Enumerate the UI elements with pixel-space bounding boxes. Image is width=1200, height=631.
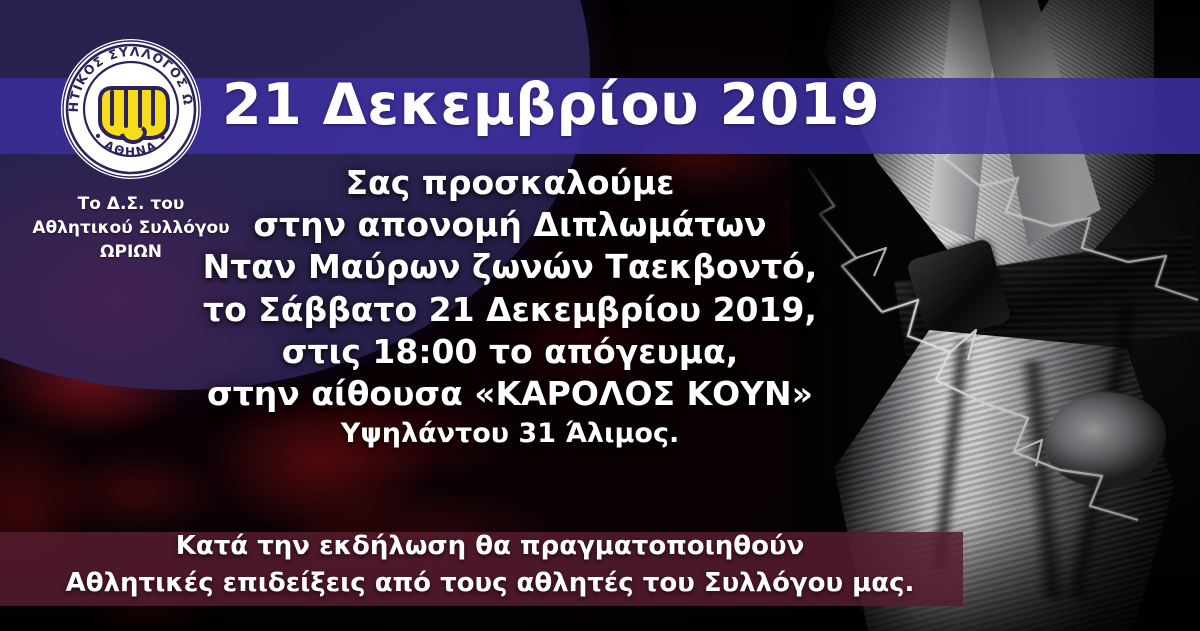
invitation-text: Σας προσκαλούμε στην απονομή Διπλωμάτων … bbox=[180, 162, 840, 454]
invite-line: Σας προσκαλούμε bbox=[180, 162, 840, 204]
event-poster: 21 Δεκεμβρίου 2019 ΑΘΛΗΤΙΚΟΣ ΣΥΛΛΟΓΟΣ ΩΡ… bbox=[0, 0, 1200, 631]
invite-line: Νταν Μαύρων ζωνών Ταεκβοντό, bbox=[180, 246, 840, 288]
invite-line: στην απονομή Διπλωμάτων bbox=[180, 204, 840, 246]
invite-line: το Σάββατο 21 Δεκεμβρίου 2019, bbox=[180, 289, 840, 331]
invite-line: στις 18:00 το απόγευμα, bbox=[180, 331, 840, 373]
venue-address: Υψηλάντου 31 Άλιμος. bbox=[180, 415, 840, 453]
event-date: 21 Δεκεμβρίου 2019 bbox=[222, 72, 880, 138]
footer-line: Αθλητικές επιδείξεις από τους αθλητές το… bbox=[0, 565, 980, 602]
fist-emblem bbox=[100, 88, 168, 142]
footer-line: Κατά την εκδήλωση θα πραγματοποιηθούν bbox=[0, 528, 980, 565]
club-seal-icon: ΑΘΛΗΤΙΚΟΣ ΣΥΛΛΟΓΟΣ ΩΡΙΩΝ • ΑΘΗΝΑ • bbox=[60, 38, 202, 180]
footer-text: Κατά την εκδήλωση θα πραγματοποιηθούν Αθ… bbox=[0, 528, 980, 602]
invite-line: στην αίθουσα «ΚΑΡΟΛΟΣ ΚΟΥΝ» bbox=[180, 373, 840, 415]
